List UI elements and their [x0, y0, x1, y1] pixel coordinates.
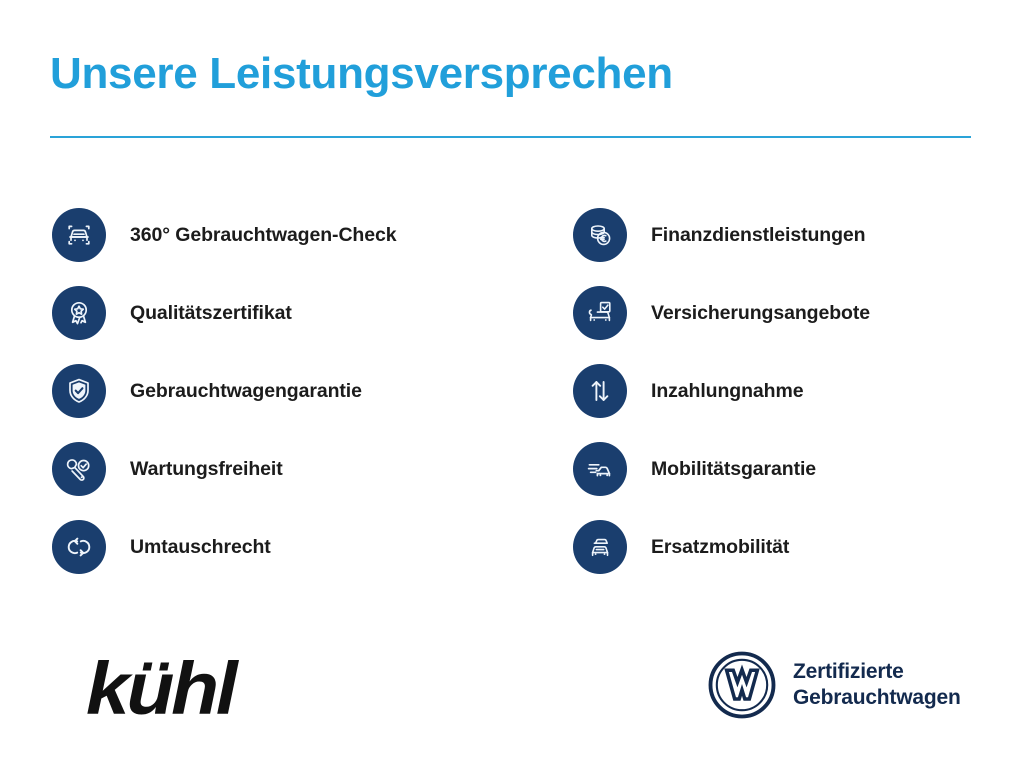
- vw-certified-caption: Zertifizierte Gebrauchtwagen: [793, 659, 961, 711]
- shield-check-icon: [52, 364, 106, 418]
- benefit-label: Wartungsfreiheit: [130, 458, 283, 481]
- header: Unsere Leistungsversprechen: [50, 48, 974, 100]
- slide-root: Unsere Leistungsversprechen 360° G: [0, 0, 1024, 768]
- benefit-item-gebrauchtwagengarantie[interactable]: Gebrauchtwagengarantie: [52, 352, 522, 430]
- arrows-up-down-icon: [573, 364, 627, 418]
- benefit-item-360-check[interactable]: 360° Gebrauchtwagen-Check: [52, 196, 522, 274]
- car-checklist-icon: [573, 286, 627, 340]
- vw-certified-badge: Zertifizierte Gebrauchtwagen: [707, 650, 961, 720]
- benefit-item-inzahlungnahme[interactable]: Inzahlungnahme: [573, 352, 1013, 430]
- vw-caption-line-1: Zertifizierte: [793, 659, 961, 685]
- volkswagen-logo-icon: [707, 650, 777, 720]
- benefit-item-versicherungsangebote[interactable]: Versicherungsangebote: [573, 274, 1013, 352]
- car-speed-icon: [573, 442, 627, 496]
- benefit-label: 360° Gebrauchtwagen-Check: [130, 224, 396, 247]
- benefit-label: Mobilitätsgarantie: [651, 458, 816, 481]
- benefit-label: Qualitätszertifikat: [130, 302, 292, 325]
- benefit-label: Gebrauchtwagengarantie: [130, 380, 362, 403]
- benefit-item-umtauschrecht[interactable]: Umtauschrecht: [52, 508, 522, 586]
- benefit-item-qualitaetszertifikat[interactable]: Qualitätszertifikat: [52, 274, 522, 352]
- page-title: Unsere Leistungsversprechen: [50, 48, 974, 100]
- coins-euro-icon: [573, 208, 627, 262]
- benefit-item-ersatzmobilitaet[interactable]: Ersatzmobilität: [573, 508, 1013, 586]
- two-cars-icon: [573, 520, 627, 574]
- benefit-label: Versicherungsangebote: [651, 302, 870, 325]
- benefit-item-finanzdienstleistungen[interactable]: Finanzdienstleistungen: [573, 196, 1013, 274]
- vw-caption-line-2: Gebrauchtwagen: [793, 685, 961, 711]
- benefit-label: Ersatzmobilität: [651, 536, 789, 559]
- benefits-right-column: Finanzdienstleistungen Versicheru: [573, 196, 1013, 586]
- footer: kühl Zertifizierte Gebrauchtwagen: [0, 630, 1024, 750]
- car-scan-icon: [52, 208, 106, 262]
- benefit-label: Finanzdienstleistungen: [651, 224, 865, 247]
- benefit-item-wartungsfreiheit[interactable]: Wartungsfreiheit: [52, 430, 522, 508]
- benefits-left-column: 360° Gebrauchtwagen-Check Qualitätszerti…: [52, 196, 522, 586]
- award-rosette-icon: [52, 286, 106, 340]
- benefit-label: Inzahlungnahme: [651, 380, 803, 403]
- benefit-label: Umtauschrecht: [130, 536, 271, 559]
- exchange-arrows-icon: [52, 520, 106, 574]
- title-divider: [50, 136, 971, 138]
- benefit-item-mobilitaetsgarantie[interactable]: Mobilitätsgarantie: [573, 430, 1013, 508]
- wrench-check-icon: [52, 442, 106, 496]
- dealer-logo: kühl: [86, 652, 235, 726]
